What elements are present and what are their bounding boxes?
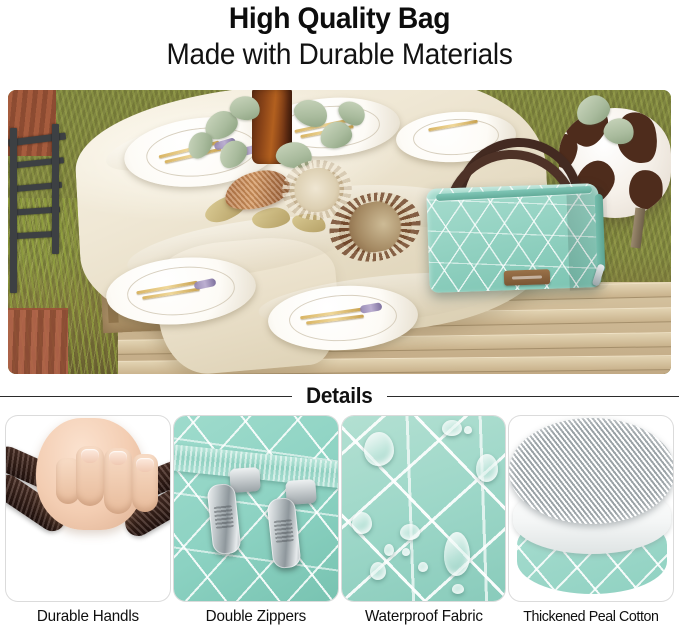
water-droplets-icon bbox=[352, 512, 372, 534]
water-droplets-icon bbox=[402, 548, 410, 556]
insulation-layers-icon bbox=[509, 418, 673, 524]
water-droplets-icon bbox=[476, 454, 498, 482]
water-droplets-icon bbox=[364, 432, 394, 466]
metal-chair bbox=[8, 114, 70, 299]
water-droplets-icon bbox=[452, 584, 464, 594]
detail-thumb-durable-handles bbox=[6, 416, 170, 601]
water-droplets-icon bbox=[370, 562, 386, 580]
water-droplets-icon bbox=[442, 420, 462, 436]
details-divider: Details bbox=[0, 378, 679, 414]
page-title: High Quality Bag bbox=[20, 0, 658, 36]
caption-thickened-pearl-cotton: Thickened Peal Cotton bbox=[513, 604, 669, 631]
caption-waterproof-fabric: Waterproof Fabric bbox=[346, 604, 502, 631]
detail-thumb-waterproof-fabric bbox=[342, 416, 506, 601]
divider-rule-left bbox=[0, 396, 292, 397]
detail-thumb-double-zippers bbox=[174, 416, 338, 601]
water-droplets-icon bbox=[418, 562, 428, 572]
hand-gripping-handle-icon bbox=[36, 418, 144, 530]
water-droplets-icon bbox=[400, 524, 420, 540]
divider-rule-right bbox=[387, 396, 679, 397]
hero-product-photo bbox=[8, 90, 671, 374]
detail-caption-row: Durable Handls Double Zippers Waterproof… bbox=[6, 604, 673, 631]
detail-thumb-thickened-pearl-cotton bbox=[509, 416, 673, 601]
water-droplets-icon bbox=[444, 532, 470, 576]
detail-thumbnail-row bbox=[6, 416, 673, 601]
water-droplets-icon bbox=[384, 544, 394, 556]
page-subtitle: Made with Durable Materials bbox=[24, 36, 655, 73]
product-bag bbox=[428, 142, 608, 292]
water-droplets-icon bbox=[464, 426, 472, 434]
product-infographic: High Quality Bag Made with Durable Mater… bbox=[0, 0, 679, 631]
details-label: Details bbox=[306, 383, 373, 409]
geometric-pattern bbox=[174, 416, 338, 601]
caption-double-zippers: Double Zippers bbox=[178, 604, 334, 631]
header-block: High Quality Bag Made with Durable Mater… bbox=[0, 0, 679, 88]
bag-leather-label bbox=[504, 269, 550, 286]
red-wood-edge bbox=[8, 308, 68, 374]
caption-durable-handles: Durable Handls bbox=[10, 604, 166, 631]
brown-protea-flower bbox=[334, 195, 417, 259]
white-protea-flower bbox=[287, 164, 347, 215]
